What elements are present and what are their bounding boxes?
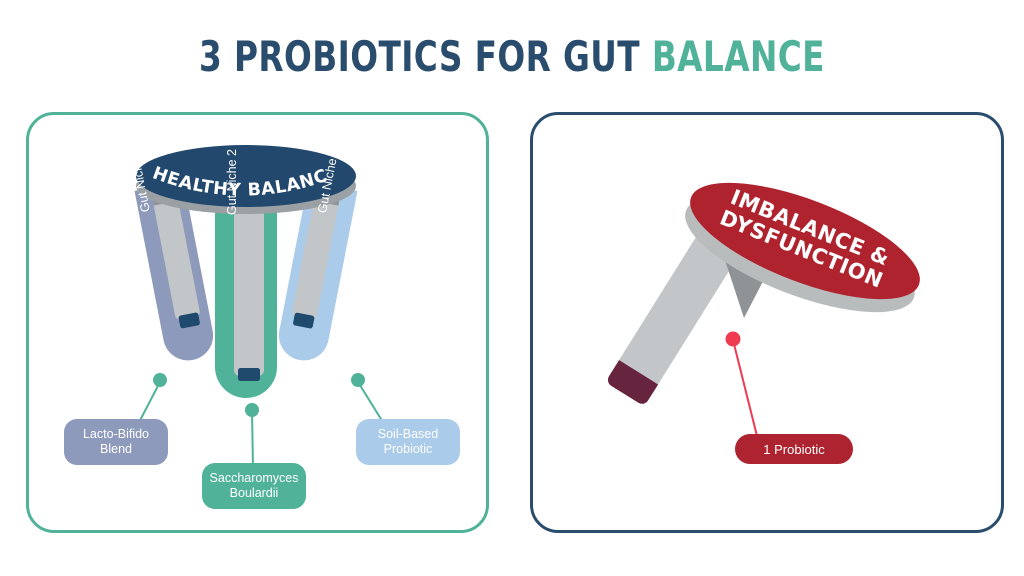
page-title: 3 PROBIOTICS FOR GUT BALANCE	[113, 36, 912, 78]
callout-lacto-bifido-blend-label: Lacto-Bifido Blend	[74, 427, 158, 457]
page-title-main: 3 PROBIOTICS FOR GUT	[199, 32, 652, 81]
callout-one-probiotic-label: 1 Probiotic	[763, 442, 824, 457]
callout-saccharomyces-boulardii-label: Saccharomyces Boulardii	[210, 471, 299, 501]
callout-one-probiotic[interactable]: 1 Probiotic	[735, 434, 853, 464]
callout-saccharomyces-boulardii[interactable]: Saccharomyces Boulardii	[202, 463, 306, 509]
page-title-accent: BALANCE	[652, 32, 825, 81]
imbalance-dysfunction-panel	[530, 112, 1004, 533]
callout-soil-based-probiotic-label: Soil-Based Probiotic	[366, 427, 450, 457]
callout-lacto-bifido-blend[interactable]: Lacto-Bifido Blend	[64, 419, 168, 465]
callout-soil-based-probiotic[interactable]: Soil-Based Probiotic	[356, 419, 460, 465]
infographic-canvas: 3 PROBIOTICS FOR GUT BALANCE	[0, 0, 1024, 576]
stool-leg-2-label: Gut Niche 2	[225, 149, 239, 215]
